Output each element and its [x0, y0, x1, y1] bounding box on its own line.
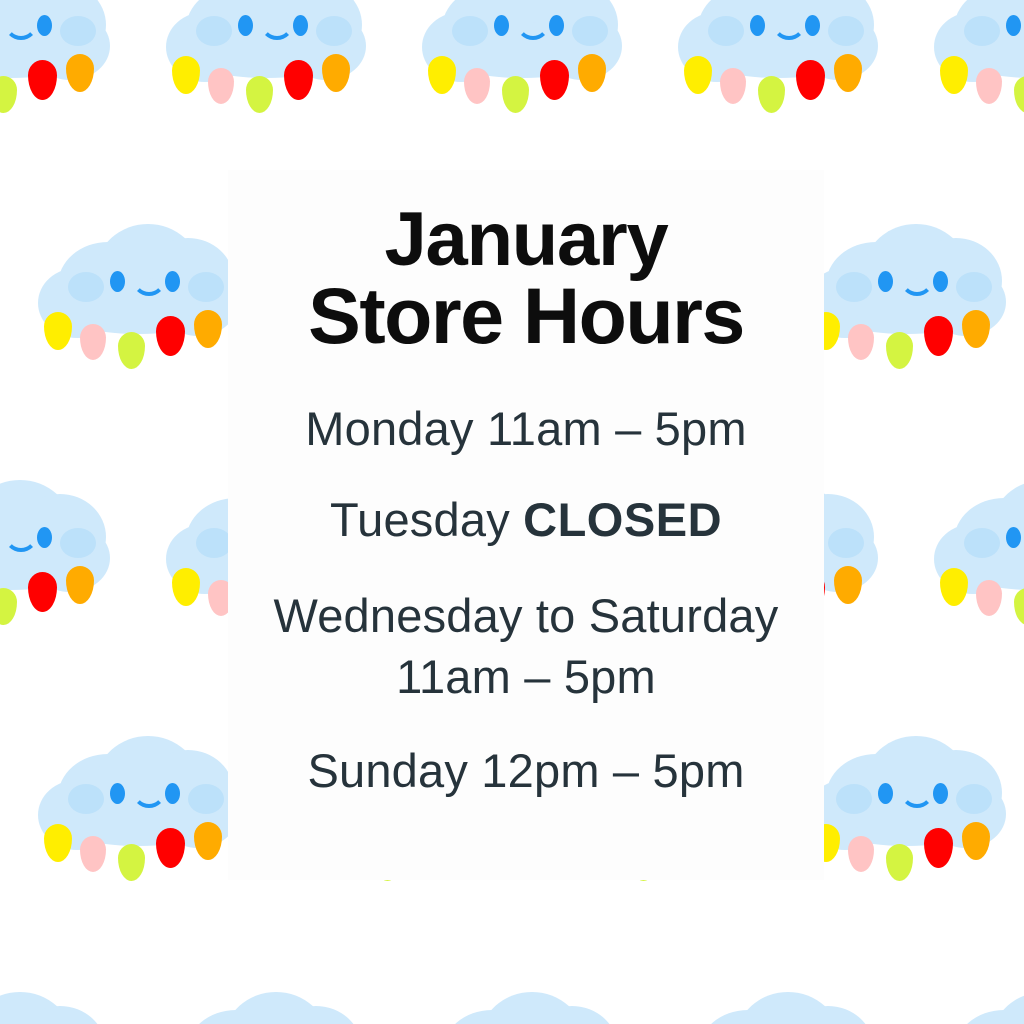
- cloud-eye-right: [805, 15, 820, 36]
- yellow-drop: [684, 56, 712, 94]
- cloud-blush-right: [956, 272, 992, 302]
- cloud-blush-left: [708, 16, 744, 46]
- lime-drop: [758, 76, 785, 113]
- cloud-blush-right: [188, 784, 224, 814]
- cloud-eye-right: [37, 15, 52, 36]
- cloud-icon: [0, 0, 110, 130]
- lime-drop: [246, 76, 273, 113]
- cloud-eye-right: [165, 783, 180, 804]
- cloud-blush-left: [68, 784, 104, 814]
- cloud-blush-left: [836, 784, 872, 814]
- cloud-eye-right: [165, 271, 180, 292]
- orange-drop: [578, 54, 606, 92]
- pink-drop: [848, 836, 874, 872]
- cloud-eye-left: [238, 15, 253, 36]
- red-drop: [540, 60, 569, 100]
- lime-drop: [1014, 76, 1024, 113]
- lime-drop: [1014, 588, 1024, 625]
- cloud-blush-left: [964, 528, 1000, 558]
- yellow-drop: [428, 56, 456, 94]
- pink-drop: [80, 836, 106, 872]
- hours-row-tuesday: Tuesday CLOSED: [330, 494, 722, 547]
- cloud-blush-right: [188, 272, 224, 302]
- status-badge-closed: CLOSED: [523, 493, 722, 546]
- cloud-icon: [38, 728, 238, 898]
- cloud-icon: [934, 984, 1024, 1024]
- orange-drop: [66, 54, 94, 92]
- hours-row-monday: Monday 11am – 5pm: [305, 403, 746, 456]
- lime-drop: [502, 76, 529, 113]
- hours-row-tuesday-text: Tuesday: [330, 493, 523, 546]
- cloud-blush-right: [60, 528, 96, 558]
- red-drop: [156, 316, 185, 356]
- cloud-eye-left: [878, 783, 893, 804]
- cloud-blush-left: [196, 16, 232, 46]
- hours-row-wednesday-saturday-days: Wednesday to Saturday: [274, 585, 779, 646]
- cloud-blush-left: [68, 272, 104, 302]
- cloud-blush-right: [956, 784, 992, 814]
- lime-drop: [886, 844, 913, 881]
- lime-drop: [0, 76, 17, 113]
- red-drop: [156, 828, 185, 868]
- cloud-icon: [678, 0, 878, 130]
- cloud-blush-right: [828, 528, 864, 558]
- cloud-blush-left: [452, 16, 488, 46]
- yellow-drop: [44, 312, 72, 350]
- cloud-eye-right: [933, 783, 948, 804]
- pink-drop: [848, 324, 874, 360]
- hours-list: Monday 11am – 5pm Tuesday CLOSED Wednesd…: [228, 403, 824, 835]
- cloud-icon: [422, 984, 622, 1024]
- page-title: January Store Hours: [308, 202, 744, 355]
- lime-drop: [118, 844, 145, 881]
- red-drop: [924, 828, 953, 868]
- store-hours-card: January Store Hours Monday 11am – 5pm Tu…: [228, 170, 824, 880]
- cloud-icon: [0, 472, 110, 642]
- lime-drop: [0, 588, 17, 625]
- cloud-icon: [806, 216, 1006, 386]
- orange-drop: [834, 54, 862, 92]
- hours-row-monday-text: Monday 11am – 5pm: [305, 402, 746, 455]
- cloud-eye-left: [1006, 527, 1021, 548]
- cloud-icon: [934, 472, 1024, 642]
- cloud-blush-right: [828, 16, 864, 46]
- cloud-blush-left: [964, 16, 1000, 46]
- cloud-eye-left: [878, 271, 893, 292]
- yellow-drop: [172, 568, 200, 606]
- cloud-icon: [422, 0, 622, 130]
- orange-drop: [194, 310, 222, 348]
- cloud-eye-right: [37, 527, 52, 548]
- cloud-icon: [166, 0, 366, 130]
- orange-drop: [322, 54, 350, 92]
- pink-drop: [80, 324, 106, 360]
- cloud-eye-right: [549, 15, 564, 36]
- cloud-blush-left: [196, 528, 232, 558]
- cloud-eye-left: [110, 783, 125, 804]
- pink-drop: [208, 68, 234, 104]
- orange-drop: [66, 566, 94, 604]
- cloud-icon: [166, 984, 366, 1024]
- cloud-icon: [38, 216, 238, 386]
- red-drop: [28, 572, 57, 612]
- hours-row-sunday: Sunday 12pm – 5pm: [307, 745, 744, 798]
- cloud-icon: [678, 984, 878, 1024]
- cloud-blush-right: [572, 16, 608, 46]
- cloud-icon: [0, 984, 110, 1024]
- pink-drop: [720, 68, 746, 104]
- title-line-2: Store Hours: [308, 277, 744, 355]
- cloud-eye-left: [110, 271, 125, 292]
- pink-drop: [464, 68, 490, 104]
- orange-drop: [962, 822, 990, 860]
- pink-drop: [976, 580, 1002, 616]
- orange-drop: [962, 310, 990, 348]
- cloud-eye-left: [494, 15, 509, 36]
- cloud-icon: [806, 728, 1006, 898]
- lime-drop: [118, 332, 145, 369]
- yellow-drop: [172, 56, 200, 94]
- poster-canvas: January Store Hours Monday 11am – 5pm Tu…: [0, 0, 1024, 1024]
- cloud-eye-left: [1006, 15, 1021, 36]
- red-drop: [28, 60, 57, 100]
- hours-row-sunday-text: Sunday 12pm – 5pm: [307, 744, 744, 797]
- hours-row-wednesday-saturday: Wednesday to Saturday 11am – 5pm: [274, 585, 779, 707]
- pink-drop: [976, 68, 1002, 104]
- yellow-drop: [940, 56, 968, 94]
- yellow-drop: [940, 568, 968, 606]
- cloud-eye-left: [750, 15, 765, 36]
- cloud-eye-right: [933, 271, 948, 292]
- cloud-icon: [934, 0, 1024, 130]
- red-drop: [284, 60, 313, 100]
- cloud-blush-left: [836, 272, 872, 302]
- orange-drop: [194, 822, 222, 860]
- cloud-lobe: [992, 992, 1024, 1024]
- title-line-1: January: [308, 202, 744, 277]
- cloud-eye-right: [293, 15, 308, 36]
- cloud-blush-right: [316, 16, 352, 46]
- red-drop: [796, 60, 825, 100]
- yellow-drop: [44, 824, 72, 862]
- cloud-blush-right: [60, 16, 96, 46]
- red-drop: [924, 316, 953, 356]
- hours-row-wednesday-saturday-time: 11am – 5pm: [274, 646, 779, 707]
- lime-drop: [886, 332, 913, 369]
- orange-drop: [834, 566, 862, 604]
